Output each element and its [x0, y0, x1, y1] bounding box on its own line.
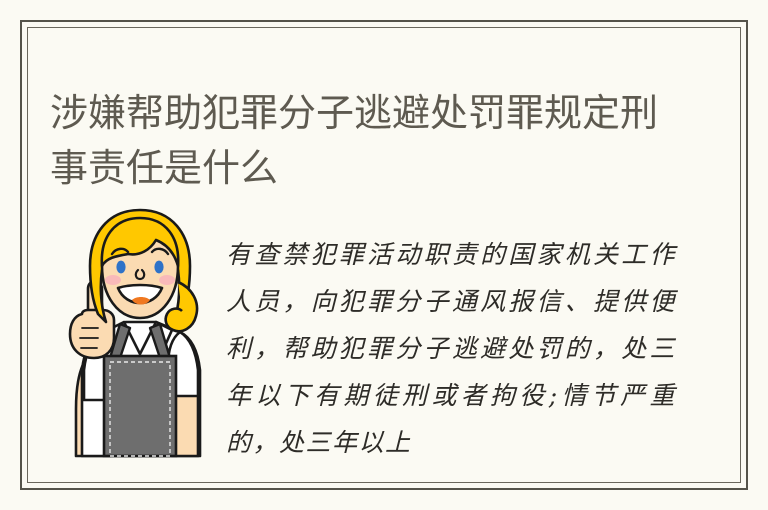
- page-title: 涉嫌帮助犯罪分子逃避处罚罪规定刑事责任是什么: [50, 87, 690, 197]
- article-body-text: 有查禁犯罪活动职责的国家机关工作人员，向犯罪分子通风报信、提供便利，帮助犯罪分子…: [226, 231, 676, 466]
- cartoon-woman-illustration: [60, 204, 220, 466]
- article-content: 有查禁犯罪活动职责的国家机关工作人员，向犯罪分子通风报信、提供便利，帮助犯罪分子…: [36, 196, 726, 476]
- article-page: 涉嫌帮助犯罪分子逃避处罚罪规定刑事责任是什么: [0, 0, 768, 510]
